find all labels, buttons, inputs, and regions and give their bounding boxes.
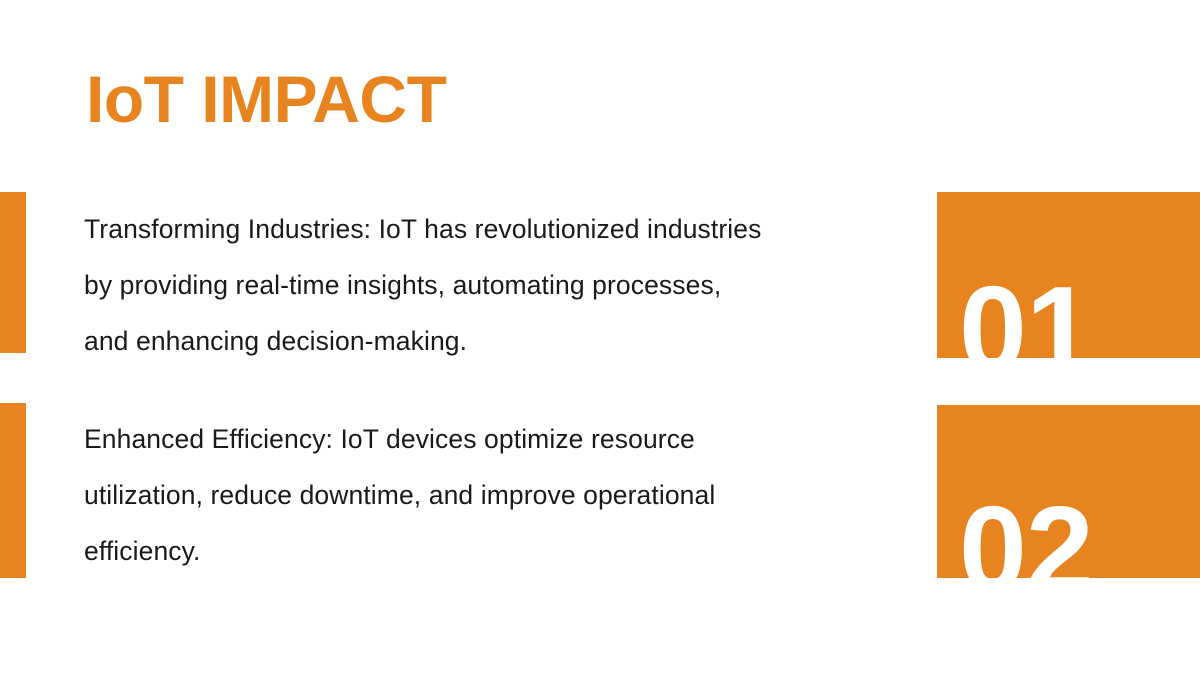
bullet-text-point-1: Transforming Industries: IoT has revolut… [84, 201, 924, 369]
bullet-line: utilization, reduce downtime, and improv… [84, 467, 924, 523]
number-card-point-1: 01 [937, 192, 1200, 358]
number-label: 02 [959, 488, 1093, 578]
bullet-line: and enhancing decision-making. [84, 313, 924, 369]
bullet-text-point-2: Enhanced Efficiency: IoT devices optimiz… [84, 411, 924, 579]
bullet-line: by providing real-time insights, automat… [84, 257, 924, 313]
accent-bar-point-1 [0, 192, 26, 353]
bullet-line: efficiency. [84, 523, 924, 579]
number-label: 01 [959, 268, 1093, 358]
bullet-line: Transforming Industries: IoT has revolut… [84, 201, 924, 257]
page-title: IoT IMPACT [86, 66, 446, 132]
number-card-point-2: 02 [937, 405, 1200, 578]
accent-bar-point-2 [0, 403, 26, 578]
bullet-line: Enhanced Efficiency: IoT devices optimiz… [84, 411, 924, 467]
slide-canvas: IoT IMPACT Transforming Industries: IoT … [0, 0, 1200, 675]
